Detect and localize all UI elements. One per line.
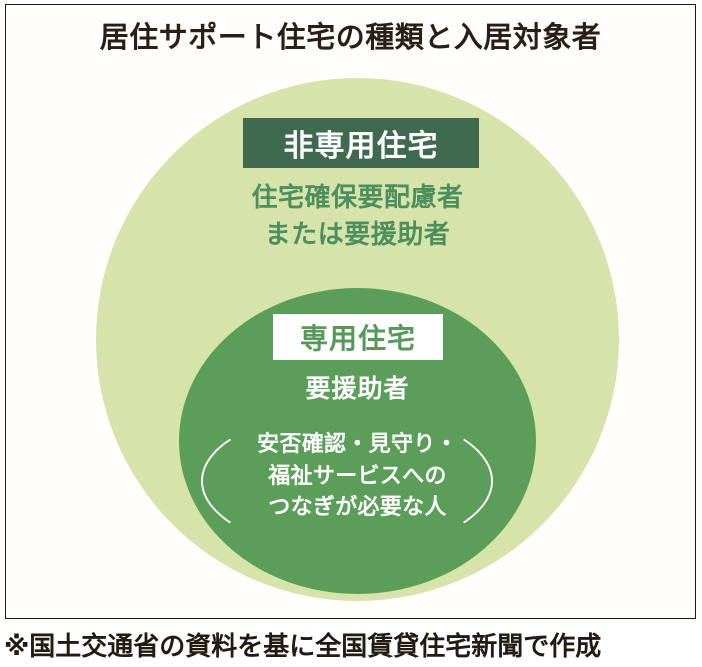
inner-circle-eligibility-text: 要援助者 — [179, 369, 536, 405]
requirement-line-3: つなぎが必要な人 — [179, 491, 536, 523]
status-badge-non-exclusive-housing: 非専用住宅 — [243, 118, 479, 168]
outer-circle-non-exclusive-housing: 非専用住宅 住宅確保要配慮者 または要援助者 専用住宅 要援助者 安否確認・見守… — [96, 78, 619, 601]
infographic-figure: 居住サポート住宅の種類と入居対象者 非専用住宅 住宅確保要配慮者 または要援助者… — [0, 0, 702, 667]
status-badge-exclusive-housing: 専用住宅 — [273, 314, 443, 360]
page-title: 居住サポート住宅の種類と入居対象者 — [6, 23, 695, 55]
figure-panel: 居住サポート住宅の種類と入居対象者 非専用住宅 住宅確保要配慮者 または要援助者… — [5, 4, 696, 619]
requirement-line-2: 福祉サービスへの — [179, 460, 536, 492]
outer-circle-eligibility-text: 住宅確保要配慮者 または要援助者 — [96, 179, 619, 253]
inner-circle-requirements-text: 安否確認・見守り・ 福祉サービスへの つなぎが必要な人 — [179, 428, 536, 523]
inner-circle-exclusive-housing: 専用住宅 要援助者 安否確認・見守り・ 福祉サービスへの つなぎが必要な人 — [179, 288, 536, 594]
outer-eligibility-line-1: 住宅確保要配慮者 — [96, 179, 619, 216]
requirement-line-1: 安否確認・見守り・ — [179, 428, 536, 460]
source-footnote: ※国土交通省の資料を基に全国賃貸住宅新聞で作成 — [4, 626, 601, 663]
outer-eligibility-line-2: または要援助者 — [96, 216, 619, 253]
